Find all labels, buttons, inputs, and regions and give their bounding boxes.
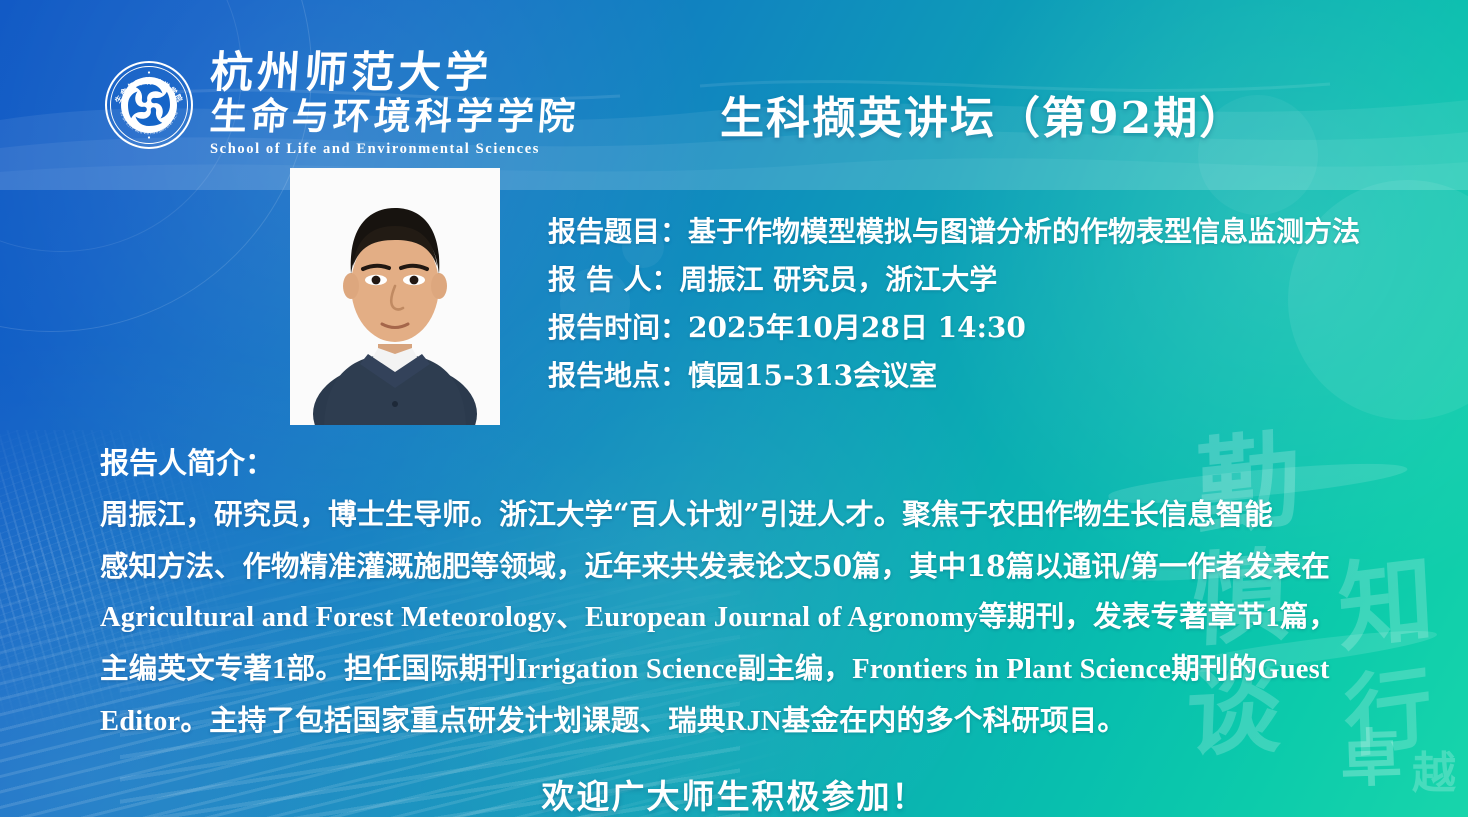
- info-row-topic: 报告题目：基于作物模型模拟与图谱分析的作物表型信息监测方法: [548, 208, 1360, 256]
- bio-line-2: 感知方法、作物精准灌溉施肥等领域，近年来共发表论文50篇，其中18篇以通讯/第一…: [100, 540, 1400, 592]
- page-title: 生科撷英讲坛（第92期）: [720, 82, 1320, 146]
- welcome-message: 欢迎广大师生积极参加！: [0, 770, 1468, 817]
- info-value-topic: 基于作物模型模拟与图谱分析的作物表型信息监测方法: [688, 215, 1360, 248]
- school-name-block: 杭州师范大学 生命与环境科学学院 School of Life and Envi…: [210, 52, 579, 158]
- university-name-cn: 杭州师范大学: [208, 52, 580, 96]
- info-value-speaker: 周振江 研究员，浙江大学: [680, 263, 998, 296]
- info-label-speaker: 报 告 人：: [548, 263, 680, 296]
- info-label-time: 报告时间：: [548, 311, 688, 344]
- poster-header: 生命与环境科学学院 School of Life and Environment…: [0, 0, 1468, 165]
- school-seal-icon: 生命与环境科学学院 School of Life and Environment…: [104, 60, 194, 150]
- info-row-speaker: 报 告 人：周振江 研究员，浙江大学: [548, 256, 1360, 304]
- bio-line-5: Editor。主持了包括国家重点研发计划课题、瑞典RJN基金在内的多个科研项目。: [100, 696, 1400, 748]
- bio-line-3: Agricultural and Forest Meteorology、Euro…: [100, 592, 1400, 644]
- speaker-bio-block: 报告人简介： 周振江，研究员，博士生导师。浙江大学“百人计划”引进人才。聚焦于农…: [100, 438, 1400, 748]
- talk-info-block: 报告题目：基于作物模型模拟与图谱分析的作物表型信息监测方法 报 告 人：周振江 …: [548, 208, 1360, 400]
- info-row-location: 报告地点：慎园15-313会议室: [548, 352, 1360, 400]
- info-label-topic: 报告题目：: [548, 215, 688, 248]
- info-row-time: 报告时间：2025年10月28日 14:30: [548, 304, 1360, 352]
- speaker-photo: [290, 168, 500, 425]
- school-name-cn: 生命与环境科学学院: [209, 98, 581, 136]
- bio-line-4: 主编英文专著1部。担任国际期刊Irrigation Science副主编，Fro…: [100, 644, 1400, 696]
- bio-heading: 报告人简介：: [100, 438, 1400, 488]
- school-logo: 生命与环境科学学院 School of Life and Environment…: [104, 52, 579, 158]
- info-value-location: 慎园15-313会议室: [688, 359, 937, 392]
- info-value-time: 2025年10月28日 14:30: [688, 311, 1026, 344]
- poster-canvas: 勤 慎 知 谈 行 卓 越: [0, 0, 1468, 817]
- info-label-location: 报告地点：: [548, 359, 688, 392]
- bio-line-1: 周振江，研究员，博士生导师。浙江大学“百人计划”引进人才。聚焦于农田作物生长信息…: [100, 488, 1400, 540]
- school-name-en: School of Life and Environmental Science…: [210, 141, 579, 158]
